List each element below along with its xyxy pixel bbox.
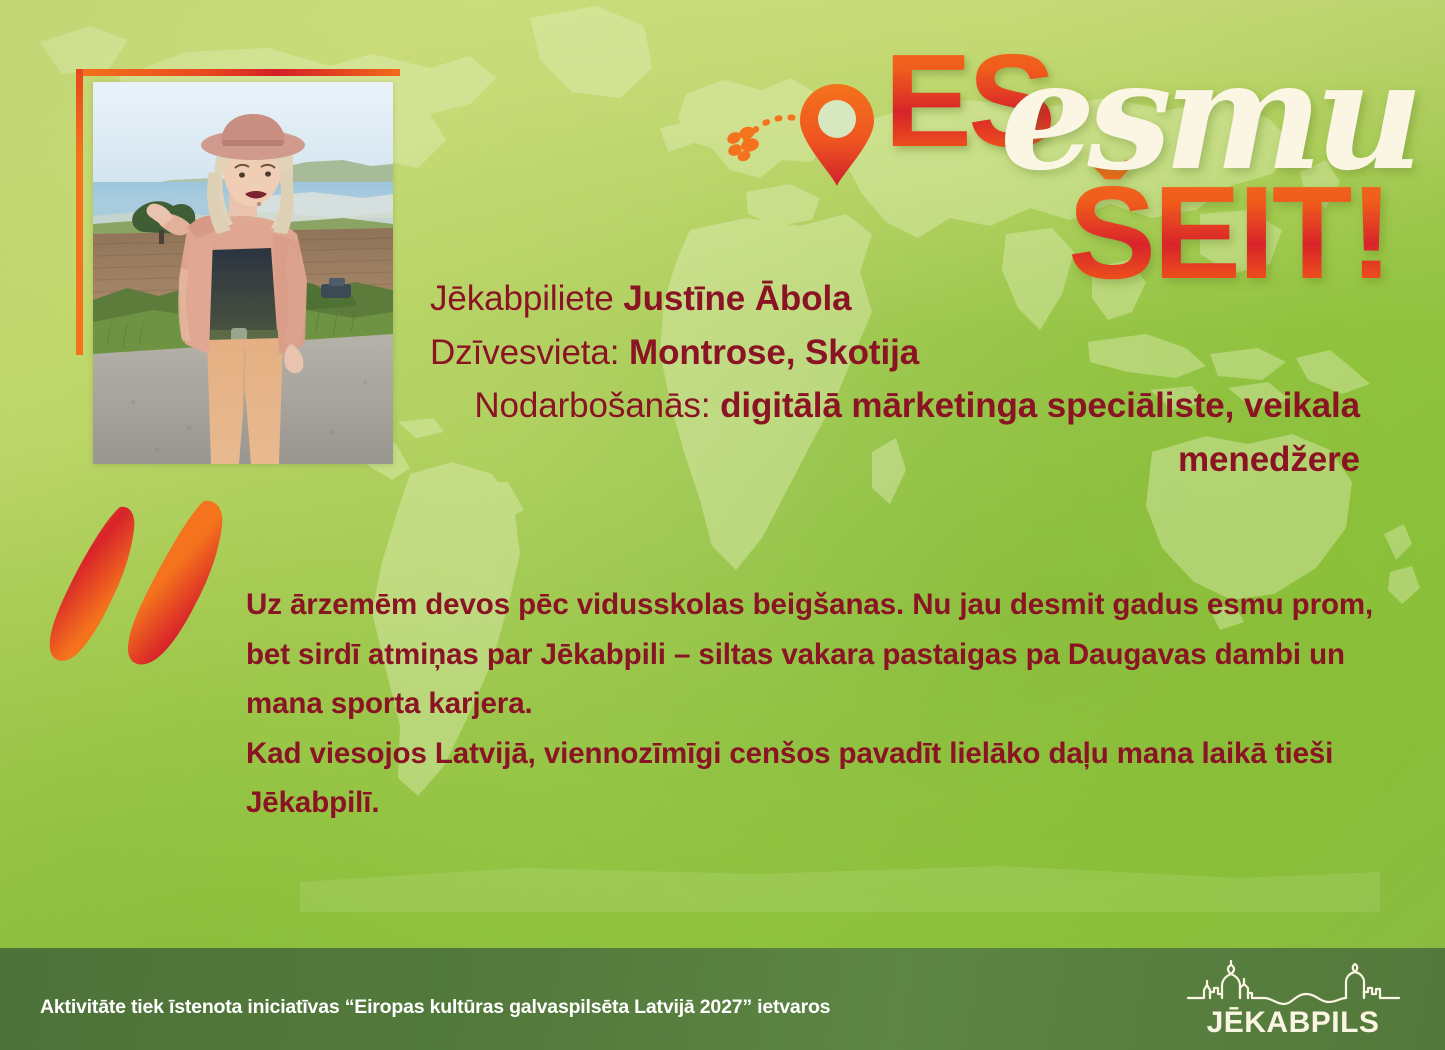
info-name-line: Jēkabpiliete Justīne Ābola — [430, 272, 1360, 326]
footer-bar: Aktivitāte tiek īstenota iniciatīvas “Ei… — [0, 948, 1445, 1050]
info-residence-label: Dzīvesvieta: — [430, 333, 629, 372]
jekabpils-skyline-icon — [1188, 961, 1399, 1004]
info-residence-line: Dzīvesvieta: Montrose, Skotija — [430, 326, 1360, 380]
quote-text-block: Uz ārzemēm devos pēc vidusskolas beigšan… — [246, 580, 1386, 828]
quote-paragraph-1: Uz ārzemēm devos pēc vidusskolas beigšan… — [246, 580, 1386, 729]
footer-initiative-text: Aktivitāte tiek īstenota iniciatīvas “Ei… — [40, 996, 830, 1019]
info-name-value: Justīne Ābola — [623, 279, 851, 318]
jekabpils-wordmark: JĒKABPILS — [1207, 1006, 1380, 1039]
info-occupation-value: digitālā mārketinga speciāliste, veikala… — [720, 386, 1360, 479]
jekabpils-logo: JĒKABPILS — [1186, 964, 1401, 1038]
info-occupation-label: Nodarbošanās: — [474, 386, 720, 425]
portrait-photo — [93, 82, 393, 464]
person-info-block: Jēkabpiliete Justīne Ābola Dzīvesvieta: … — [430, 272, 1360, 486]
poster-root: ES ŠEIT! esmu Jēkabpiliete Justīne Ābola… — [0, 0, 1445, 1050]
info-occupation-line: Nodarbošanās: digitālā mārketinga speciā… — [430, 379, 1360, 486]
info-name-label: Jēkabpiliete — [430, 279, 623, 318]
quote-paragraph-2: Kad viesojos Latvijā, viennozīmīgi cenšo… — [246, 729, 1386, 828]
info-residence-value: Montrose, Skotija — [629, 333, 919, 372]
